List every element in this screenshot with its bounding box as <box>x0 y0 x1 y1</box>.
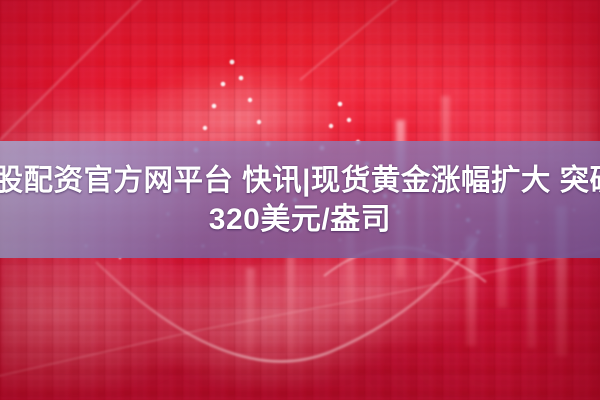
headline-band: 炒股配资官方网平台 快讯|现货黄金涨幅扩大 突破3 320美元/盎司 <box>0 141 600 258</box>
news-banner: 炒股配资官方网平台 快讯|现货黄金涨幅扩大 突破3 320美元/盎司 <box>0 0 600 400</box>
headline-line-2: 320美元/盎司 <box>209 200 391 239</box>
headline-line-1: 炒股配资官方网平台 快讯|现货黄金涨幅扩大 突破3 <box>0 161 600 200</box>
